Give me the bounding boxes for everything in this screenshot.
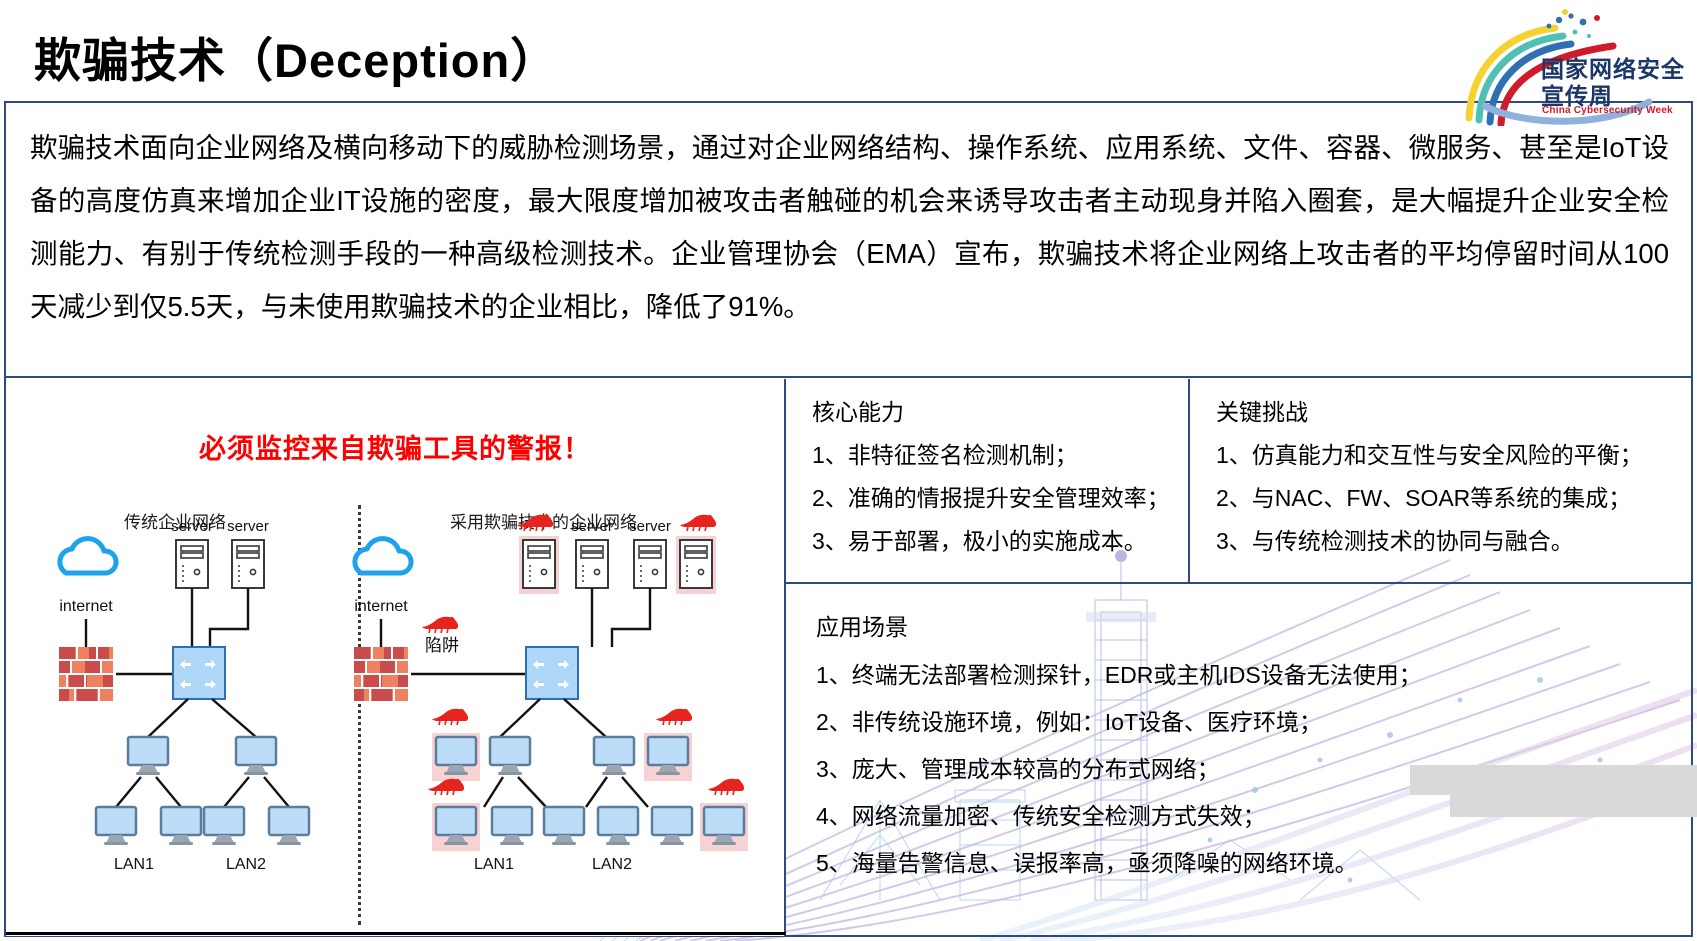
svg-text:server: server [227,518,269,535]
svg-text:internet: internet [59,598,113,615]
info-column: 核心能力 1、非特征签名检测机制； 2、准确的情报提升安全管理效率； 3、易于部… [786,379,1691,936]
scenario-item: 1、终端无法部署检测探针，EDR或主机IDS设备无法使用； [816,652,1683,699]
core-capabilities-title: 核心能力 [812,393,1178,427]
scenarios-title: 应用场景 [816,608,1683,642]
intro-section: 欺骗技术面向企业网络及横向移动下的威胁检测场景，通过对企业网络结构、操作系统、应… [6,103,1691,378]
key-challenge-item: 3、与传统检测技术的协同与融合。 [1216,520,1681,563]
key-challenge-item: 2、与NAC、FW、SOAR等系统的集成； [1216,477,1681,520]
svg-text:LAN2: LAN2 [592,856,632,873]
svg-text:server: server [629,518,671,535]
key-challenges-title: 关键挑战 [1216,393,1681,427]
core-capability-item: 1、非特征签名检测机制； [812,434,1178,477]
topology-deception: internet 陷阱 server server [354,515,748,873]
redaction-block [1410,765,1697,795]
core-capabilities-section: 核心能力 1、非特征签名检测机制； 2、准确的情报提升安全管理效率； 3、易于部… [786,379,1190,582]
core-capability-item: 3、易于部署，极小的实施成本。 [812,520,1178,563]
logo-subtitle-en: China Cybersecurity Week [1542,105,1673,116]
scenario-item: 2、非传统设施环境，例如：IoT设备、医疗环境； [816,699,1683,746]
svg-text:陷阱: 陷阱 [425,636,459,655]
capabilities-challenges-row: 核心能力 1、非特征签名检测机制； 2、准确的情报提升安全管理效率； 3、易于部… [786,379,1691,582]
key-challenges-section: 关键挑战 1、仿真能力和交互性与安全风险的平衡； 2、与NAC、FW、SOAR等… [1190,379,1691,582]
lower-region: 必须监控来自欺骗工具的警报！ 传统企业网络 采用欺骗技术的企业网络 [6,379,1691,936]
svg-text:LAN2: LAN2 [226,856,266,873]
page-title: 欺骗技术（Deception） [34,22,558,91]
topology-traditional: internet server server [59,518,309,873]
key-challenge-item: 1、仿真能力和交互性与安全风险的平衡； [1216,434,1681,477]
svg-text:server: server [571,518,613,535]
network-diagram-panel: 必须监控来自欺骗工具的警报！ 传统企业网络 采用欺骗技术的企业网络 [6,379,786,936]
network-topology-svg: internet server server [6,379,786,936]
svg-text:server: server [171,518,213,535]
core-capability-item: 2、准确的情报提升安全管理效率； [812,477,1178,520]
diagram-bottom-rule [6,932,786,935]
svg-text:internet: internet [354,598,408,615]
scenario-item: 5、海量告警信息、误报率高，亟须降噪的网络环境。 [816,840,1683,887]
svg-text:LAN1: LAN1 [474,856,514,873]
cybersecurity-week-logo: 国家网络安全 宣传周 China Cybersecurity Week [1463,6,1675,126]
svg-text:LAN1: LAN1 [114,856,154,873]
scenarios-section: 应用场景 1、终端无法部署检测探针，EDR或主机IDS设备无法使用； 2、非传统… [786,582,1691,936]
intro-paragraph: 欺骗技术面向企业网络及横向移动下的威胁检测场景，通过对企业网络结构、操作系统、应… [6,103,1691,333]
redaction-block [1450,795,1697,817]
